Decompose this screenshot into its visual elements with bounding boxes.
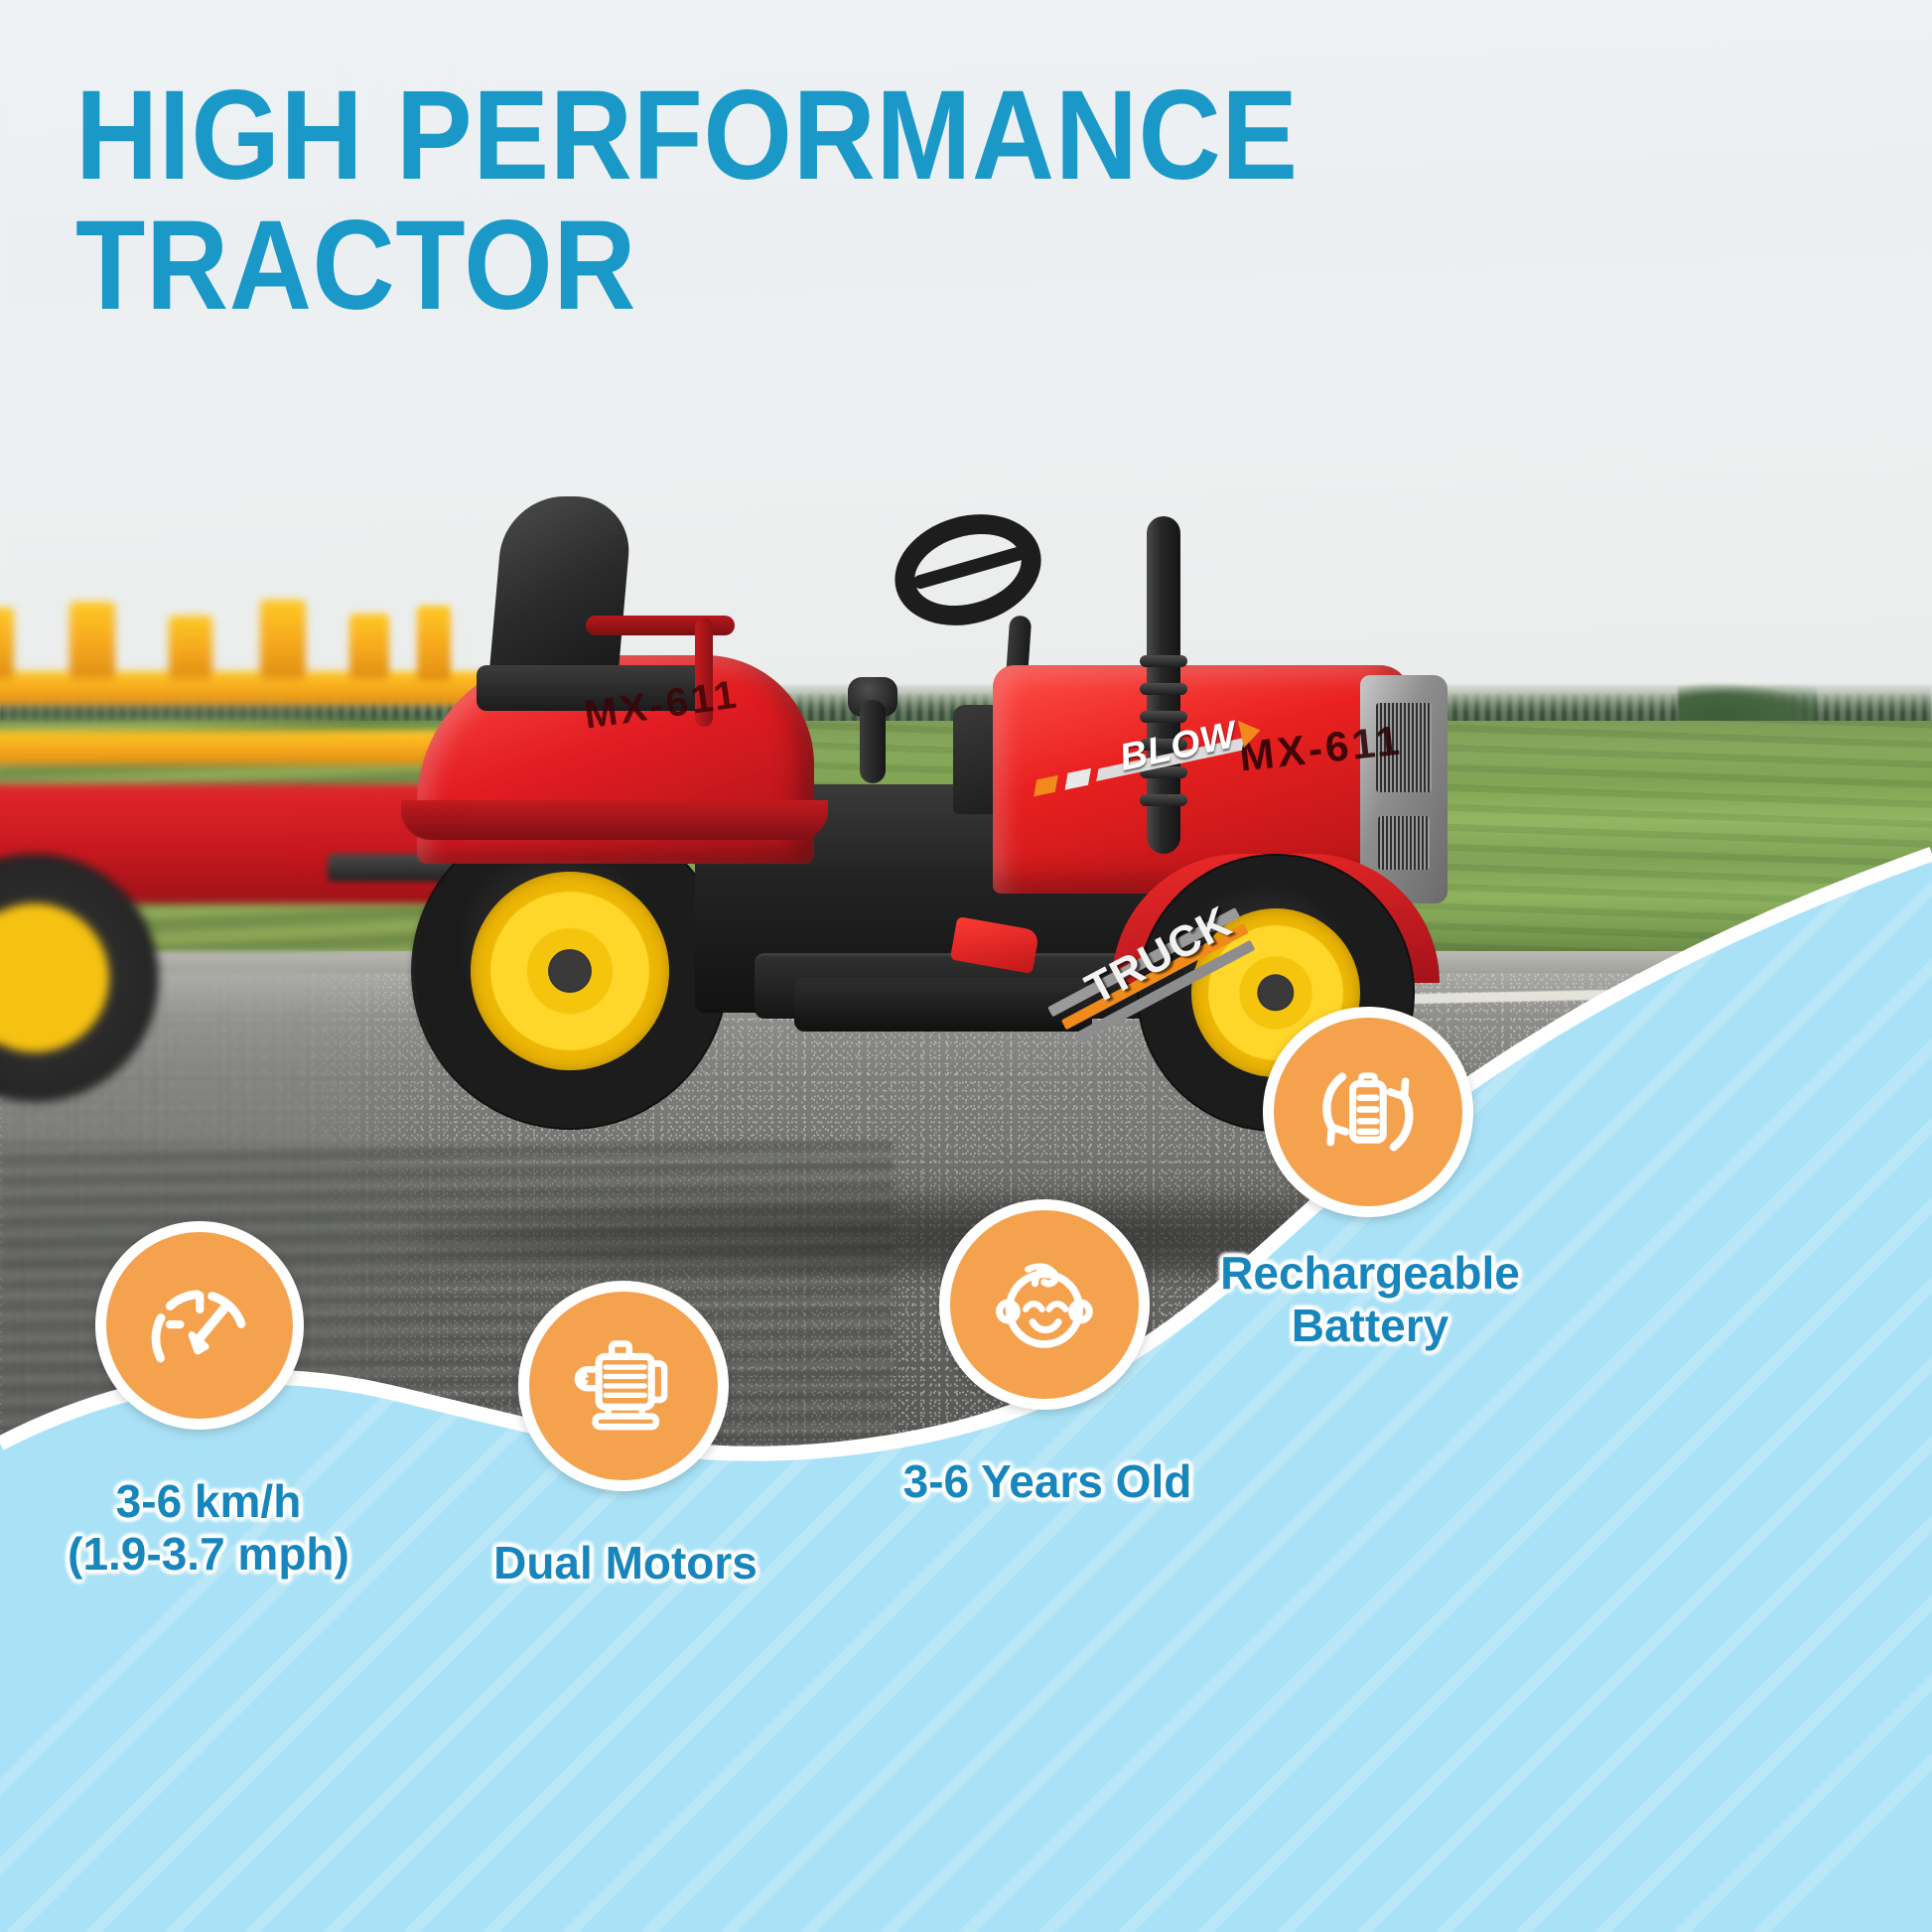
gear-shifter <box>860 700 886 783</box>
feature-label-age: 3-6 Years Old <box>854 1455 1241 1508</box>
feature-badge-motors[interactable] <box>518 1281 729 1491</box>
ride-on-tractor: MX-611 MX-611 BLOW TRUCK <box>0 556 1932 1311</box>
feature-label-motors: Dual Motors <box>437 1537 814 1589</box>
exhaust-rib-3 <box>1140 711 1187 723</box>
electric-motor-icon <box>565 1327 682 1445</box>
seat-backrest <box>488 496 634 685</box>
rechargeable-battery-icon <box>1310 1053 1427 1171</box>
trailer-post-1 <box>0 608 14 679</box>
feature-badge-speed[interactable] <box>95 1221 304 1430</box>
speedometer-icon <box>142 1268 258 1384</box>
feature-badge-age[interactable] <box>939 1199 1150 1410</box>
promo-banner: MX-611 MX-611 BLOW TRUCK <box>0 0 1932 1932</box>
feature-label-battery: Rechargeable Battery <box>1181 1247 1559 1352</box>
stripe-orange-square <box>1034 775 1058 797</box>
exhaust-rib-6 <box>1140 794 1187 806</box>
trailer-post-6 <box>417 606 451 681</box>
feature-badge-battery[interactable] <box>1263 1007 1473 1217</box>
feature-label-speed: 3-6 km/h (1.9-3.7 mph) <box>20 1475 397 1581</box>
trailer-post-3 <box>169 616 212 679</box>
grille-slot-lower <box>1378 816 1430 870</box>
rear-fender-lip <box>401 800 828 840</box>
page-title: HIGH PERFORMANCE TRACTOR <box>75 71 1416 331</box>
baby-face-icon <box>986 1246 1103 1363</box>
trailer-post-2 <box>69 602 115 679</box>
trailer-post-4 <box>260 600 306 679</box>
stripe-white-square <box>1065 768 1091 790</box>
trailer-rail-mid <box>0 731 496 764</box>
exhaust-rib-2 <box>1140 683 1187 695</box>
rear-wheel-hub <box>471 872 669 1070</box>
exhaust-rib-1 <box>1140 655 1187 667</box>
trailer-post-5 <box>349 614 389 679</box>
